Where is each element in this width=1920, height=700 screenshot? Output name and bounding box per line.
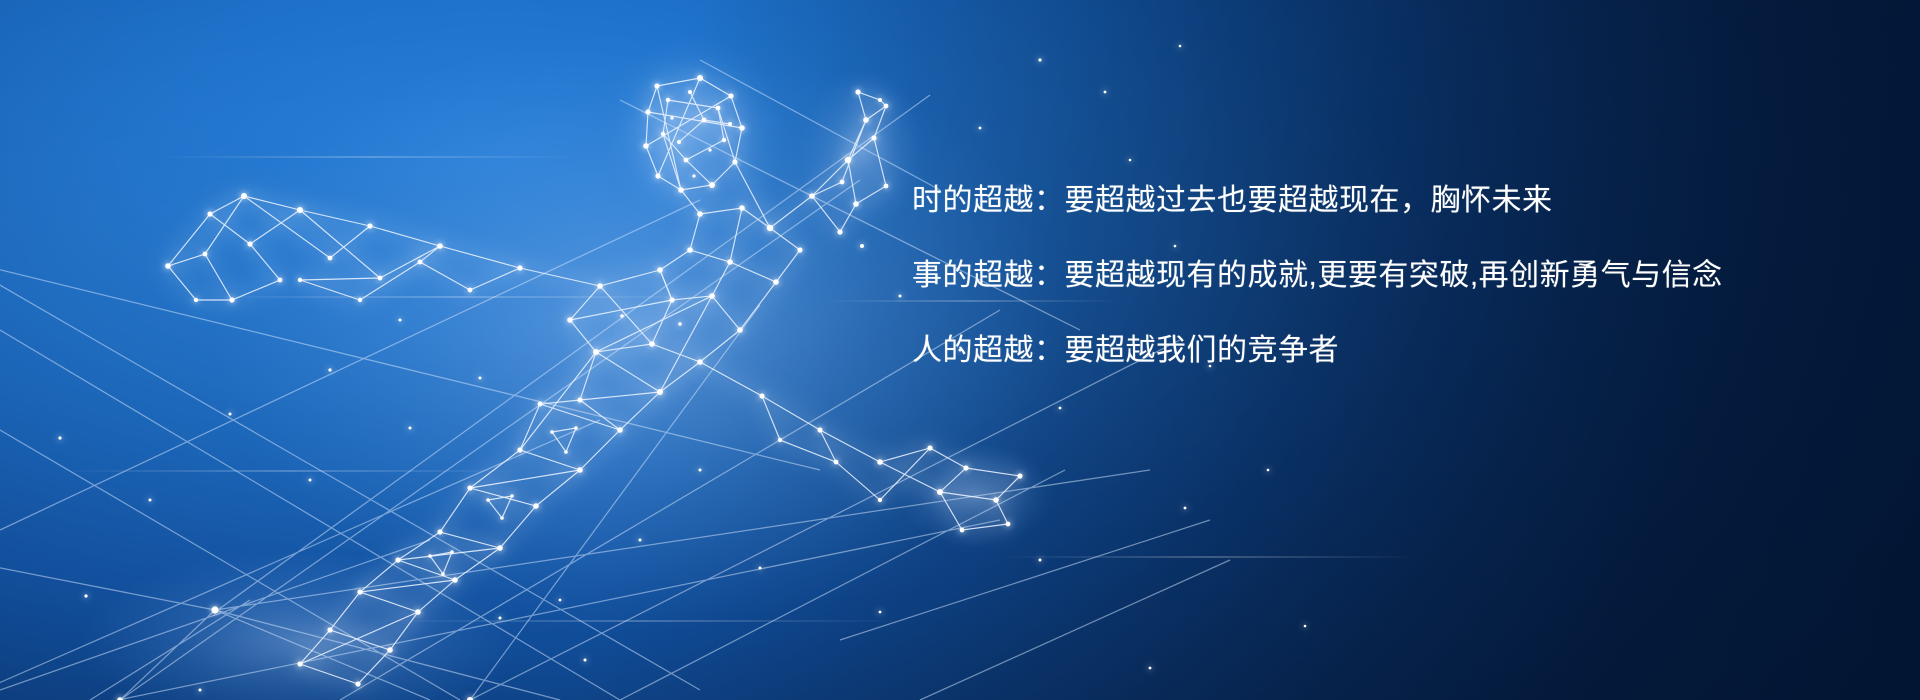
- tagline-people: 人的超越：要超越我们的竞争者: [912, 336, 1792, 366]
- tagline-time: 时的超越：要超越过去也要超越现在，胸怀未来: [912, 186, 1792, 216]
- hero-banner: 时的超越：要超越过去也要超越现在，胸怀未来 事的超越：要超越现有的成就,更要有突…: [0, 0, 1920, 700]
- tagline-group: 时的超越：要超越过去也要超越现在，胸怀未来 事的超越：要超越现有的成就,更要有突…: [912, 186, 1792, 366]
- head-glow-halo: [602, 36, 786, 228]
- tagline-matter: 事的超越：要超越现有的成就,更要有突破,再创新勇气与信念: [912, 261, 1792, 291]
